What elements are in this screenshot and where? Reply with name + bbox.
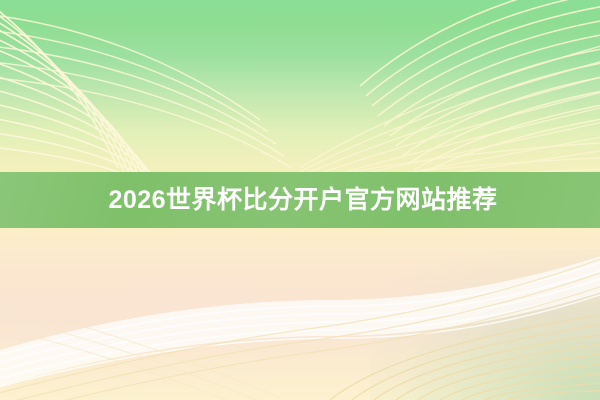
promo-banner: 2026世界杯比分开户官方网站推荐	[0, 0, 600, 400]
bottom-right-green-tint	[370, 250, 600, 400]
headline-text: 2026世界杯比分开户官方网站推荐	[0, 188, 600, 213]
headline-band: 2026世界杯比分开户官方网站推荐	[0, 172, 600, 228]
